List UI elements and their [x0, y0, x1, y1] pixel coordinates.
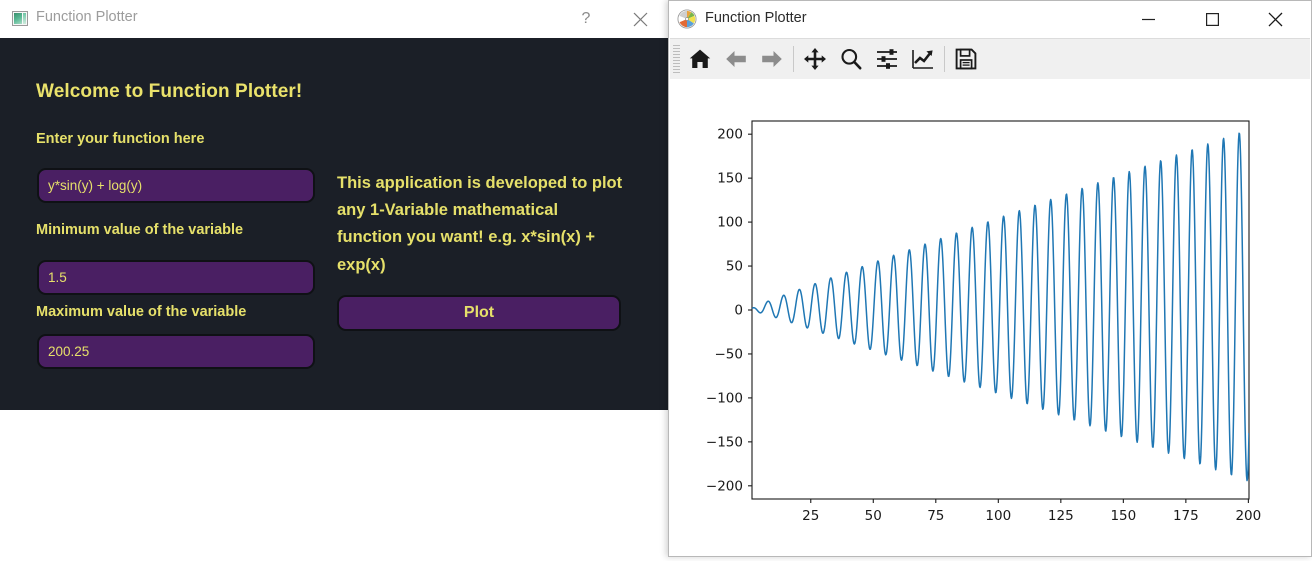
svg-text:200: 200: [717, 127, 743, 143]
figure-canvas[interactable]: −200−150−100−50050100150200 255075100125…: [670, 79, 1310, 556]
svg-text:−50: −50: [715, 346, 744, 362]
maximize-icon: [1206, 13, 1219, 26]
screen: Function Plotter ? Welcome to Function P…: [0, 0, 1312, 561]
minimize-icon: [1142, 13, 1155, 26]
left-window-titlebar: Function Plotter ?: [0, 0, 668, 39]
pan-move-icon: [803, 47, 827, 71]
svg-text:75: 75: [927, 508, 944, 524]
svg-text:−200: −200: [706, 478, 743, 494]
help-icon: ?: [582, 10, 591, 28]
svg-text:50: 50: [865, 508, 882, 524]
app-square-icon: [12, 11, 28, 26]
matplotlib-logo-icon: [677, 9, 697, 29]
back-button[interactable]: [718, 42, 754, 76]
subplot-sliders-icon: [875, 47, 899, 71]
pan-button[interactable]: [797, 42, 833, 76]
save-floppy-icon: [954, 47, 978, 71]
home-icon: [688, 47, 712, 71]
svg-text:150: 150: [1110, 508, 1136, 524]
svg-text:50: 50: [726, 259, 743, 275]
maximize-button[interactable]: [1189, 1, 1236, 37]
function-plotter-form-window: Function Plotter ? Welcome to Function P…: [0, 0, 668, 410]
home-button[interactable]: [682, 42, 718, 76]
forward-arrow-icon: [760, 47, 784, 71]
svg-text:200: 200: [1235, 508, 1261, 524]
close-icon: [633, 12, 648, 27]
zoom-magnifier-icon: [839, 47, 863, 71]
close-button[interactable]: [1252, 1, 1299, 37]
svg-text:100: 100: [717, 215, 743, 231]
svg-text:−150: −150: [706, 434, 743, 450]
page-title: Welcome to Function Plotter!: [36, 81, 302, 103]
left-window-body: Welcome to Function Plotter! Enter your …: [0, 38, 668, 410]
app-description-text: This application is developed to plot an…: [337, 170, 627, 279]
toolbar-separator: [793, 46, 794, 72]
minimum-input[interactable]: [37, 260, 315, 295]
svg-text:100: 100: [985, 508, 1011, 524]
svg-text:150: 150: [717, 171, 743, 187]
function-input[interactable]: [37, 168, 315, 203]
maximum-field-label: Maximum value of the variable: [36, 304, 246, 320]
svg-text:−100: −100: [706, 390, 743, 406]
zoom-button[interactable]: [833, 42, 869, 76]
edit-parameters-button[interactable]: [905, 42, 941, 76]
function-field-label: Enter your function here: [36, 131, 204, 147]
back-arrow-icon: [724, 47, 748, 71]
close-icon: [1268, 12, 1283, 27]
minimum-field-label: Minimum value of the variable: [36, 222, 243, 238]
matplotlib-navigation-toolbar: [670, 38, 1310, 80]
svg-text:0: 0: [734, 303, 743, 319]
right-window-title: Function Plotter: [705, 10, 807, 26]
left-window-title: Function Plotter: [36, 9, 138, 25]
svg-text:125: 125: [1048, 508, 1074, 524]
edit-curve-icon: [911, 47, 935, 71]
help-button[interactable]: ?: [563, 0, 609, 38]
configure-subplots-button[interactable]: [869, 42, 905, 76]
toolbar-separator: [944, 46, 945, 72]
forward-button[interactable]: [754, 42, 790, 76]
plot-button[interactable]: Plot: [337, 295, 621, 331]
function-plot: −200−150−100−50050100150200 255075100125…: [670, 79, 1310, 556]
toolbar-drag-handle[interactable]: [673, 45, 680, 73]
svg-text:175: 175: [1173, 508, 1199, 524]
maximum-input[interactable]: [37, 334, 315, 369]
minimize-button[interactable]: [1125, 1, 1172, 37]
matplotlib-figure-window: Function Plotter: [668, 0, 1312, 557]
close-button[interactable]: [617, 0, 663, 38]
svg-text:25: 25: [802, 508, 819, 524]
right-window-titlebar: Function Plotter: [669, 1, 1311, 38]
save-button[interactable]: [948, 42, 984, 76]
